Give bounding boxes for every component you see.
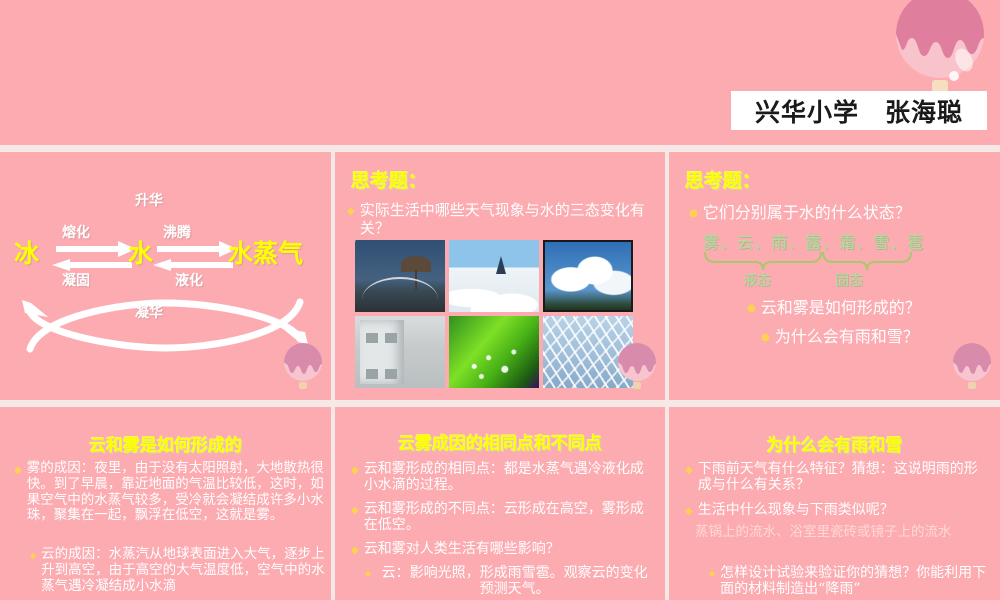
- panel-cloud-fog-formation: 云和雾是如何形成的 ◆ 雾的成因：夜里，由于没有太阳照射，大地散热很快。到了早晨…: [0, 407, 331, 600]
- slide-header-banner: 兴华小学 张海聪: [0, 0, 1000, 145]
- bullet-text: 为什么会有雨和雪？: [775, 328, 1000, 347]
- state-ice: 冰: [14, 234, 39, 270]
- bottom-left-bullet-2: ◆ 云的成因：水蒸汽从地球表面进入大气，逐步上升到高空，由于高空的大气温度低，空…: [30, 547, 326, 594]
- panel-rain-and-snow: 为什么会有雨和雪 ◆ 下雨前天气有什么特征？猜想：这说明雨的形成与什么有关系？ …: [669, 407, 1000, 600]
- diamond-bullet-icon: ◆: [365, 565, 371, 578]
- label-melting: 熔化: [62, 222, 90, 242]
- state-vapor: 水蒸气: [228, 234, 303, 270]
- panel-thinking-question-photos: 思考题： ◆ 实际生活中哪些天气现象与水的三态变化有关？: [335, 152, 665, 400]
- hot-air-balloon-icon: [888, 0, 992, 100]
- diamond-bullet-icon: ◆: [685, 502, 693, 517]
- bottom-middle-bullet-2: ◆ 云和雾形成的不同点：云形成在高空，雾形成在低空。: [351, 501, 653, 534]
- diamond-bullet-icon: ◆: [30, 547, 36, 560]
- diamond-bullet-icon: ◆: [351, 461, 359, 476]
- top-right-bullet-1: ● 它们分别属于水的什么状态？: [689, 204, 989, 223]
- bullet-item: ● 它们分别属于水的什么状态？: [689, 204, 989, 223]
- state-label-liquid: 液态: [743, 270, 771, 290]
- label-sublimation: 升华: [135, 190, 163, 210]
- bullet-item: ◆ 下雨前天气有什么特征？猜想：这说明雨的形成与什么有关系？: [685, 461, 989, 494]
- label-condensation: 液化: [175, 270, 203, 290]
- bottom-right-bullet-1: ◆ 下雨前天气有什么特征？猜想：这说明雨的形成与什么有关系？: [685, 461, 989, 494]
- panel-heading-think-2: 思考题：: [685, 166, 761, 193]
- dot-bullet-icon: ●: [747, 299, 756, 314]
- diamond-bullet-icon: ◆: [351, 501, 359, 516]
- bullet-item: ◆ 云和雾形成的不同点：云形成在高空，雾形成在低空。: [351, 501, 653, 534]
- label-boiling: 沸腾: [163, 222, 191, 242]
- bullet-item: ◆ 云和雾形成的相同点：都是水蒸气遇冷液化成小水滴的过程。: [351, 461, 653, 494]
- bullet-text: 云和雾对人类生活有哪些影响？: [364, 541, 653, 557]
- snowfield-tree-photo: [449, 240, 539, 312]
- bullet-text: 云的成因：水蒸汽从地球表面进入大气，逐步上升到高空，由于高空的大气温度低，空气中…: [41, 547, 326, 594]
- bottom-right-note: 蒸锅上的流水、浴室里瓷砖或镜子上的流水: [695, 525, 995, 541]
- bullet-item: ◆ 云：影响光照，形成雨雪雹。观察云的变化预测天气。: [365, 565, 653, 598]
- bullet-item: ◆ 实际生活中哪些天气现象与水的三态变化有关？: [347, 202, 653, 237]
- diamond-bullet-icon: ◆: [709, 565, 715, 578]
- water-state-change-diagram: 冰 水 水蒸气 升华 熔化 沸腾 凝固 液化 凝华: [0, 152, 331, 400]
- panel-heading-cloud-fog: 云和雾是如何形成的: [0, 431, 331, 456]
- diamond-bullet-icon: ◆: [351, 541, 359, 556]
- top-right-bullet-2: ● 云和雾是如何形成的？: [747, 299, 987, 318]
- panel-similarities-differences: 云雾成因的相同点和不同点 ◆ 云和雾形成的相同点：都是水蒸气遇冷液化成小水滴的过…: [335, 407, 665, 600]
- bullet-item: ◆ 云的成因：水蒸汽从地球表面进入大气，逐步上升到高空，由于高空的大气温度低，空…: [30, 547, 326, 594]
- bullet-item: ● 为什么会有雨和雪？: [761, 328, 1000, 347]
- bullet-text: 雾的成因：夜里，由于没有太阳照射，大地散热很快。到了早晨，靠近地面的气温比较低，…: [27, 461, 326, 524]
- top-right-bullet-3: ● 为什么会有雨和雪？: [761, 328, 1000, 347]
- hot-air-balloon-icon: [950, 342, 994, 394]
- bullet-text: 云和雾形成的不同点：云形成在高空，雾形成在低空。: [364, 501, 653, 534]
- bullet-text: 云：影响光照，形成雨雪雹。观察云的变化预测天气。: [376, 565, 653, 598]
- weather-photo-grid: [355, 240, 643, 388]
- bullet-item: ◆ 云和雾对人类生活有哪些影响？: [351, 541, 653, 557]
- diamond-bullet-icon: ◆: [347, 202, 355, 217]
- bullet-text: 生活中什么现象与下雨类似呢？: [698, 502, 989, 518]
- bottom-right-bullet-4: ◆ 怎样设计试验来验证你的猜想？你能利用下面的材料制造出“降雨”: [709, 565, 989, 598]
- bullet-text: 它们分别属于水的什么状态？: [703, 204, 989, 223]
- bottom-left-bullet-1: ◆ 雾的成因：夜里，由于没有太阳照射，大地散热很快。到了早晨，靠近地面的气温比较…: [14, 461, 326, 524]
- diamond-bullet-icon: ◆: [685, 461, 693, 476]
- top-middle-bullet-list: ◆ 实际生活中哪些天气现象与水的三态变化有关？: [347, 202, 653, 237]
- state-label-solid: 固态: [835, 270, 863, 290]
- bullet-item: ● 云和雾是如何形成的？: [747, 299, 987, 318]
- bullet-text: 怎样设计试验来验证你的猜想？你能利用下面的材料制造出“降雨”: [720, 565, 989, 598]
- dot-bullet-icon: ●: [761, 328, 770, 343]
- presenter-title-box: 兴华小学 张海聪: [731, 91, 987, 130]
- panel-heading-similar-different: 云雾成因的相同点和不同点: [335, 429, 665, 454]
- bullet-item: ◆ 雾的成因：夜里，由于没有太阳照射，大地散热很快。到了早晨，靠近地面的气温比较…: [14, 461, 326, 524]
- foggy-building-photo: [355, 316, 445, 388]
- label-freezing: 凝固: [62, 270, 90, 290]
- slide-canvas: 兴华小学 张海聪: [0, 0, 1000, 600]
- panel-state-classification: 思考题： ● 它们分别属于水的什么状态？ 雾、云、雨、露、霜、雪、雹 液态 固态…: [669, 152, 1000, 400]
- cumulus-clouds-photo: [543, 240, 633, 312]
- bullet-item: ◆ 怎样设计试验来验证你的猜想？你能利用下面的材料制造出“降雨”: [709, 565, 989, 598]
- dot-bullet-icon: ●: [689, 204, 698, 219]
- dew-on-leaf-photo: [449, 316, 539, 388]
- bullet-text: 下雨前天气有什么特征？猜想：这说明雨的形成与什么有关系？: [698, 461, 989, 494]
- label-deposition: 凝华: [135, 302, 163, 322]
- bullet-text: 云和雾是如何形成的？: [761, 299, 987, 318]
- bullet-text: 云和雾形成的相同点：都是水蒸气遇冷液化成小水滴的过程。: [364, 461, 653, 494]
- frost-branches-photo: [543, 316, 633, 388]
- bottom-middle-bullet-1: ◆ 云和雾形成的相同点：都是水蒸气遇冷液化成小水滴的过程。: [351, 461, 653, 494]
- state-water: 水: [128, 234, 153, 270]
- presenter-title-text: 兴华小学 张海聪: [755, 93, 963, 129]
- bullet-item: ◆ 生活中什么现象与下雨类似呢？: [685, 502, 989, 518]
- bottom-right-bullet-2: ◆ 生活中什么现象与下雨类似呢？: [685, 502, 989, 518]
- diamond-bullet-icon: ◆: [14, 461, 22, 476]
- panel-water-state-diagram: 冰 水 水蒸气 升华 熔化 沸腾 凝固 液化 凝华: [0, 152, 331, 400]
- panel-heading-rain-snow: 为什么会有雨和雪: [669, 431, 1000, 456]
- bottom-middle-bullet-4: ◆ 云：影响光照，形成雨雪雹。观察云的变化预测天气。: [365, 565, 653, 598]
- rain-over-sea-photo: [355, 240, 445, 312]
- diagram-arrows: [0, 152, 331, 400]
- bottom-middle-bullet-3: ◆ 云和雾对人类生活有哪些影响？: [351, 541, 653, 557]
- grouping-braces: [703, 250, 933, 272]
- panel-heading-think-1: 思考题：: [351, 166, 427, 193]
- bullet-text: 实际生活中哪些天气现象与水的三态变化有关？: [360, 202, 653, 237]
